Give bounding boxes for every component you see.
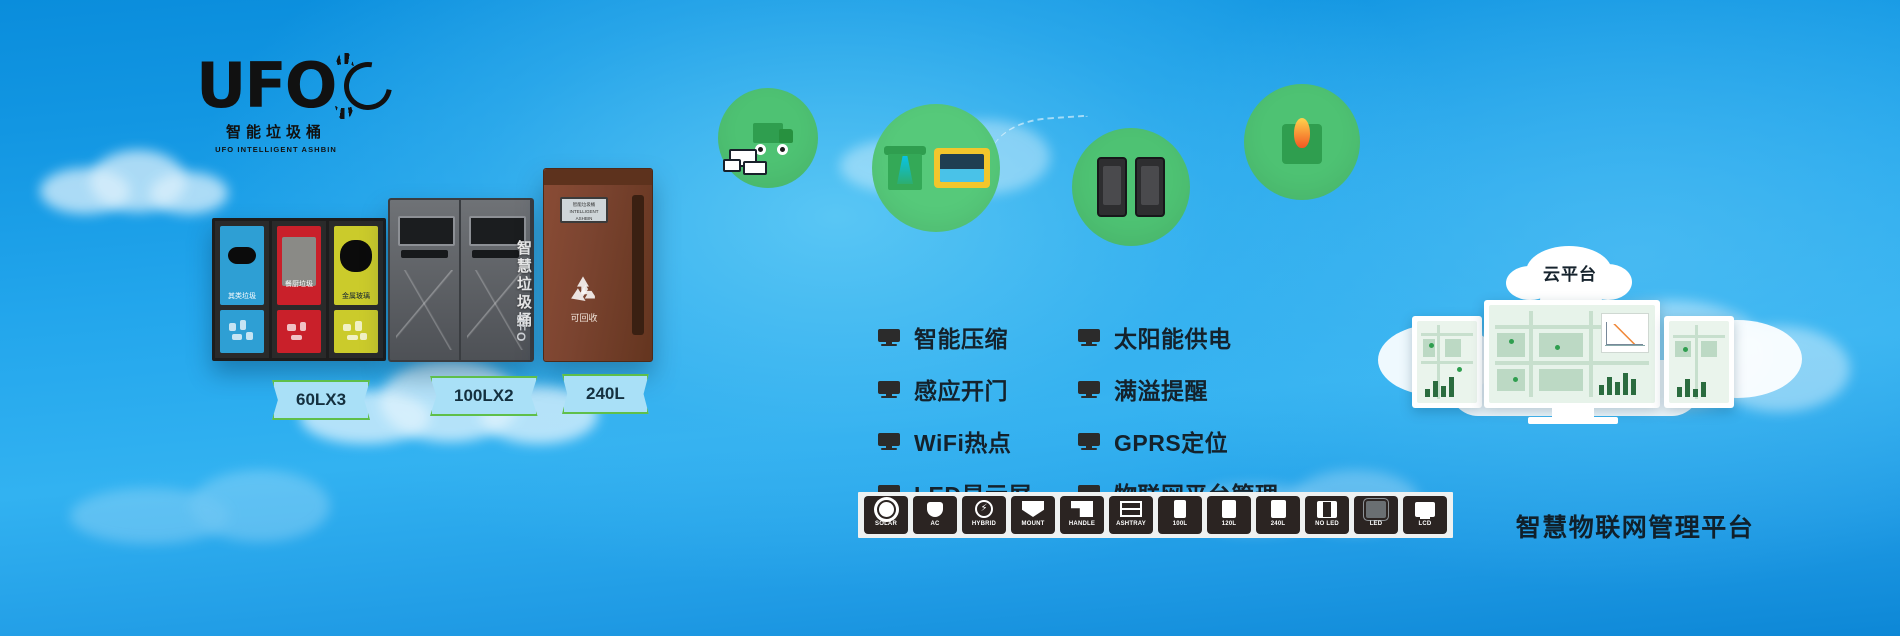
bin-bay: 其类垃圾 xyxy=(215,221,272,358)
hybrid-icon: ⚡ xyxy=(971,499,997,519)
ufo-ring-icon xyxy=(333,51,356,121)
feature-item: 太阳能供电 xyxy=(1078,320,1298,354)
feature-item: 智能压缩 xyxy=(878,320,1078,354)
monitor-stand xyxy=(1552,408,1594,417)
option-led[interactable]: LED xyxy=(1354,496,1398,534)
option-100l[interactable]: 100L xyxy=(1158,496,1202,534)
bin-scan-icon xyxy=(872,104,1000,232)
can-240l-icon xyxy=(1265,499,1291,519)
option-ac[interactable]: AC xyxy=(913,496,957,534)
handle-icon xyxy=(1069,499,1095,519)
feature-label: 感应开门 xyxy=(914,372,1008,406)
feature-item: WiFi热点 xyxy=(878,424,1078,458)
brand-logo: UFO 智能垃圾桶 UFO INTELLIGENT ASHBIN xyxy=(196,52,356,160)
battery-icon xyxy=(1072,128,1190,246)
feature-label: 满溢提醒 xyxy=(1114,372,1208,406)
fire-detection-icon xyxy=(1244,84,1360,200)
option-120l[interactable]: 120L xyxy=(1207,496,1251,534)
feature-label: WiFi热点 xyxy=(914,424,1011,458)
promo-banner: UFO 智能垃圾桶 UFO INTELLIGENT ASHBIN 其类垃圾 餐厨… xyxy=(0,0,1900,636)
option-lcd[interactable]: LCD xyxy=(1403,496,1447,534)
bin-vertical-logo: UFO xyxy=(514,314,528,342)
monitor-bullet-icon xyxy=(1078,381,1100,398)
logo-english-name: UFO INTELLIGENT ASHBIN xyxy=(196,145,356,154)
monitor-bullet-icon xyxy=(878,329,900,346)
option-mount[interactable]: MOUNT xyxy=(1011,496,1055,534)
cloud-icon: 云平台 xyxy=(1506,240,1634,302)
can-100l-icon xyxy=(1167,499,1193,519)
mount-icon xyxy=(1020,499,1046,519)
ashtray-icon xyxy=(1118,499,1144,519)
option-handle[interactable]: HANDLE xyxy=(1060,496,1104,534)
monitor-bullet-icon xyxy=(878,433,900,450)
platform-devices xyxy=(1412,300,1732,432)
ac-plug-icon xyxy=(922,499,948,519)
tablet-icon xyxy=(1412,316,1482,408)
lcd-icon xyxy=(1412,499,1438,519)
monitor-bullet-icon xyxy=(1078,433,1100,450)
single-bin: 智能垃圾桶 INTELLIGENT ASHBIN 可回收 xyxy=(543,168,653,362)
option-240l[interactable]: 240L xyxy=(1256,496,1300,534)
option-no-led[interactable]: NO LED xyxy=(1305,496,1349,534)
monitor-bullet-icon xyxy=(1078,329,1100,346)
logo-chinese-name: 智能垃圾桶 xyxy=(196,121,356,142)
monitor-bullet-icon xyxy=(878,381,900,398)
option-ashtray[interactable]: ASHTRAY xyxy=(1109,496,1153,534)
no-led-icon xyxy=(1314,499,1340,519)
monitor-base xyxy=(1528,417,1618,424)
feature-item: 满溢提醒 xyxy=(1078,372,1298,406)
logo-wordmark: UFO xyxy=(196,57,335,115)
feature-item: GPRS定位 xyxy=(1078,424,1298,458)
capacity-tag-100lx2: 100LX2 xyxy=(430,376,538,416)
can-120l-icon xyxy=(1216,499,1242,519)
cloud-platform-label: 云平台 xyxy=(1506,260,1634,285)
capacity-tag-60lx3: 60LX3 xyxy=(272,380,370,420)
led-icon xyxy=(1363,499,1389,519)
bin-bay: 餐厨垃圾 xyxy=(272,221,329,358)
recycle-icon xyxy=(566,273,600,307)
solar-icon xyxy=(873,499,899,519)
cloud-decor xyxy=(40,150,230,220)
feature-item: 感应开门 xyxy=(878,372,1078,406)
cloud-decor xyxy=(70,470,330,550)
three-bay-bin: 其类垃圾 餐厨垃圾 金属玻璃 xyxy=(212,218,386,361)
two-bay-bin: 智慧垃圾桶 UFO xyxy=(388,198,534,362)
bin-bay: 金属玻璃 xyxy=(329,221,383,358)
platform-caption: 智慧物联网管理平台 xyxy=(1470,508,1800,544)
desktop-monitor-icon xyxy=(1484,300,1660,408)
feature-list: 智能压缩 太阳能供电 感应开门 满溢提醒 WiFi热点 GPRS定位 LED显示… xyxy=(878,320,1298,510)
bin-bay-label: 其类垃圾 xyxy=(220,291,264,301)
fleet-monitoring-icon xyxy=(718,88,818,188)
bin-bay xyxy=(390,200,461,360)
phone-icon xyxy=(1664,316,1734,408)
bin-bay-label: 餐厨垃圾 xyxy=(277,279,321,289)
option-solar[interactable]: SOLAR xyxy=(864,496,908,534)
feature-label: 智能压缩 xyxy=(914,320,1008,354)
bin-recycle-label: 可回收 xyxy=(560,311,608,324)
logo-mark: UFO xyxy=(196,52,356,120)
capacity-tag-240l: 240L xyxy=(562,374,649,414)
bin-bay-label: 金属玻璃 xyxy=(334,291,378,301)
feature-label: GPRS定位 xyxy=(1114,424,1228,458)
option-icon-strip: SOLAR AC ⚡HYBRID MOUNT HANDLE ASHTRAY 10… xyxy=(858,492,1453,538)
feature-label: 太阳能供电 xyxy=(1114,320,1232,354)
bin-lcd-screen: 智能垃圾桶 INTELLIGENT ASHBIN xyxy=(560,197,608,223)
option-hybrid[interactable]: ⚡HYBRID xyxy=(962,496,1006,534)
